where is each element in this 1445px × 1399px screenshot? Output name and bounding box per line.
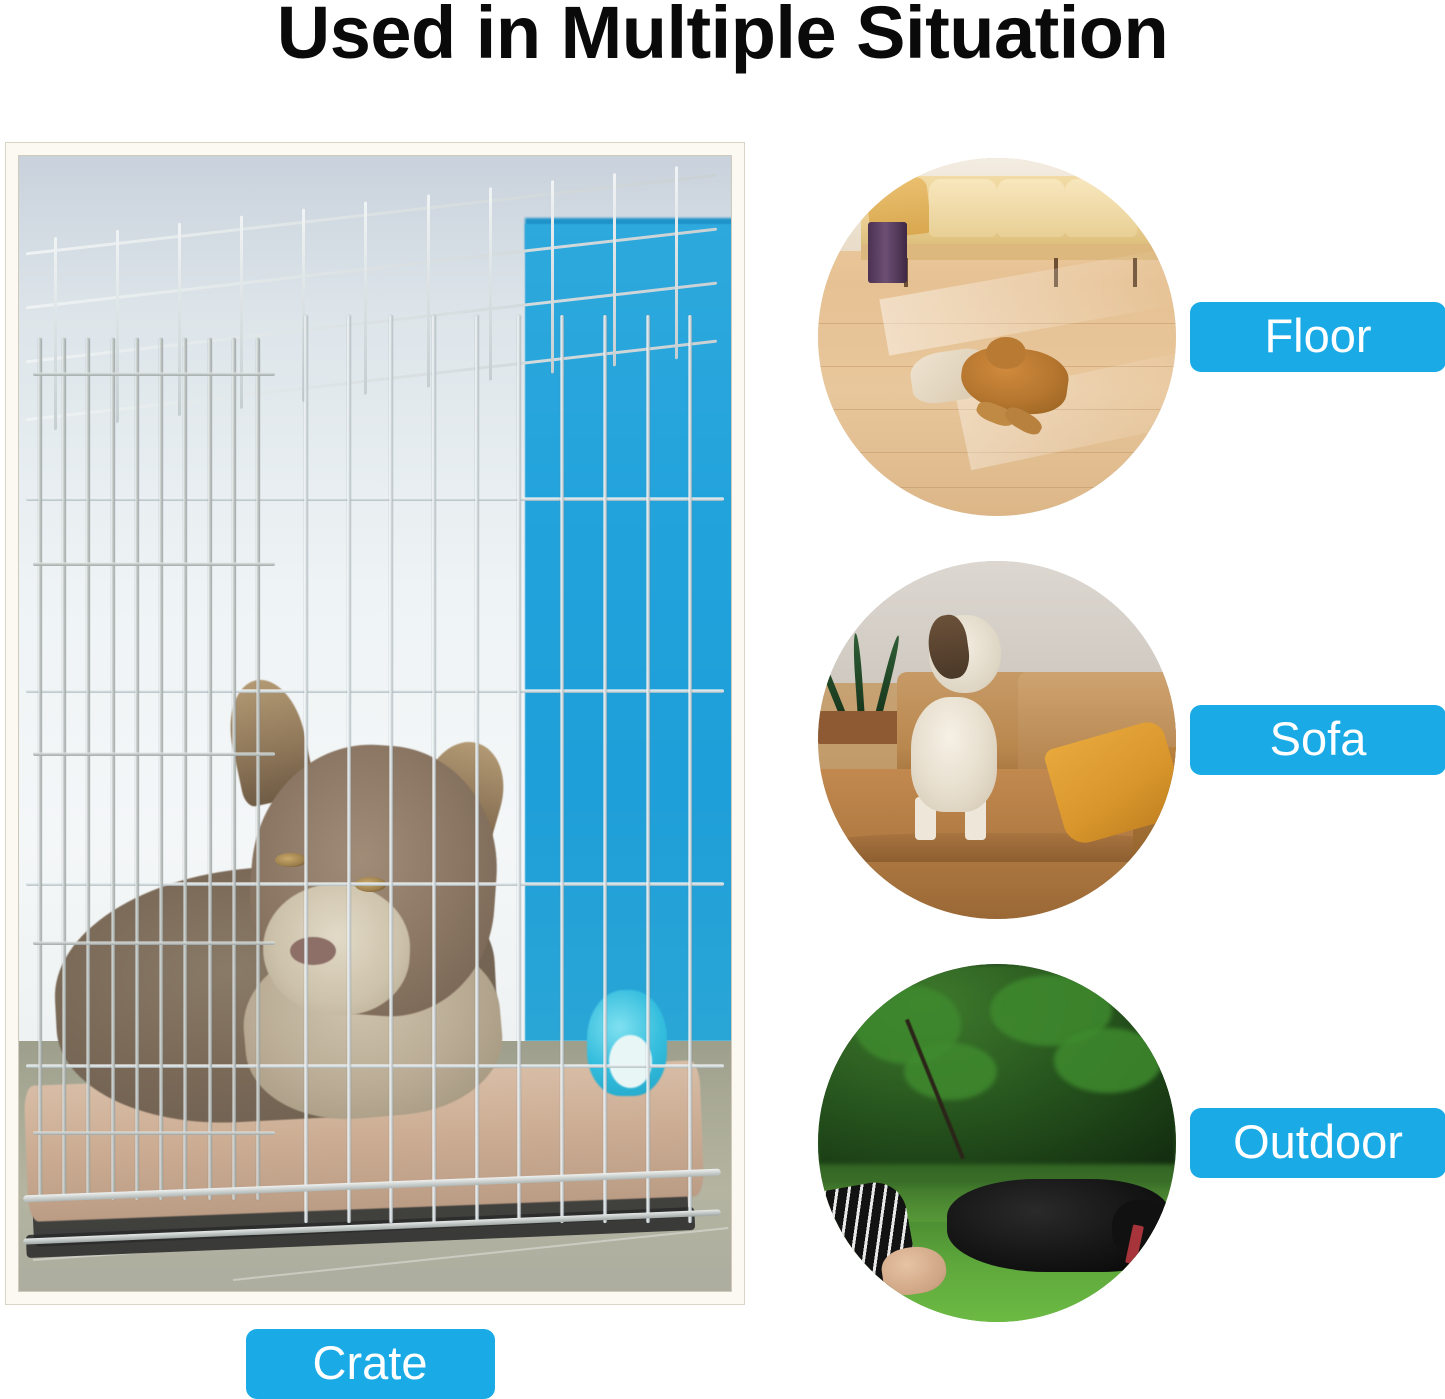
situation-row-floor: Floor [818,158,1445,516]
crate-vertical-bar [560,315,564,1223]
badge-floor[interactable]: Floor [1190,302,1445,372]
page-title: Used in Multiple Situation [0,0,1445,72]
crate-vertical-bar [304,315,308,1223]
crate-vertical-bar [347,315,351,1223]
crate-roof-bar [613,174,616,367]
floor-scene-dog-head [986,337,1025,369]
crate-door-wire [33,562,275,566]
badge-outdoor[interactable]: Outdoor [1190,1108,1445,1178]
floor-sunlight-patch [880,247,1176,356]
crate-roof-bar [427,195,430,388]
crate-vertical-bar [646,315,650,1223]
sofa-scene-seat-edge [818,833,1176,862]
crate-wire-mesh [19,156,731,1291]
sofa-scene-dog-body [911,697,997,812]
badge-sofa[interactable]: Sofa [1190,705,1445,775]
outdoor-scene [818,964,1176,1322]
crate-vertical-bar [688,315,692,1223]
situation-row-sofa: Sofa [818,561,1445,919]
crate-door-wire [33,1131,275,1135]
sofa-scene-planter [818,711,908,743]
crate-door-bar [159,338,163,1201]
crate-door-panel[interactable] [33,338,275,1201]
thumbnail-floor[interactable] [818,158,1176,516]
crate-photo-frame [5,142,745,1305]
floor-scene-cushion [1065,179,1137,236]
floor-scene-cushion [929,179,997,236]
thumbnail-sofa[interactable] [818,561,1176,919]
crate-door-bar [256,338,260,1201]
crate-vertical-bar [475,315,479,1223]
crate-vertical-bar [603,315,607,1223]
crate-door-wire [33,752,275,756]
crate-door-bar [111,338,115,1201]
crate-door-bar [208,338,212,1201]
floor-scene-waste-bin [868,222,907,283]
thumbnail-outdoor[interactable] [818,964,1176,1322]
crate-door-bar [232,338,236,1201]
crate-photo [18,155,732,1292]
crate-door-bar [86,338,90,1201]
plant-leaf [852,633,865,719]
floor-plank-line [818,487,1176,488]
sofa-scene [818,561,1176,919]
crate-vertical-bar [517,315,521,1223]
crate-door-wire [33,372,275,376]
crate-door-bar [62,338,66,1201]
situation-row-outdoor: Outdoor [818,964,1445,1322]
crate-roof-bar [365,202,368,395]
crate-bottom-rail [23,1209,720,1244]
crate-roof-bar [489,188,492,381]
crate-door-bar [135,338,139,1201]
crate-door-wire [33,941,275,945]
floor-scene [818,158,1176,516]
crate-door-bar [183,338,187,1201]
crate-roof-bar [551,181,554,374]
outdoor-foliage [1054,1028,1161,1092]
sofa-scene-plant [825,633,904,719]
floor-scene-cushion [997,179,1065,236]
crate-roof-bar [675,166,678,359]
crate-vertical-bar [389,315,393,1223]
crate-door-bar [38,338,42,1201]
crate-vertical-bar [432,315,436,1223]
